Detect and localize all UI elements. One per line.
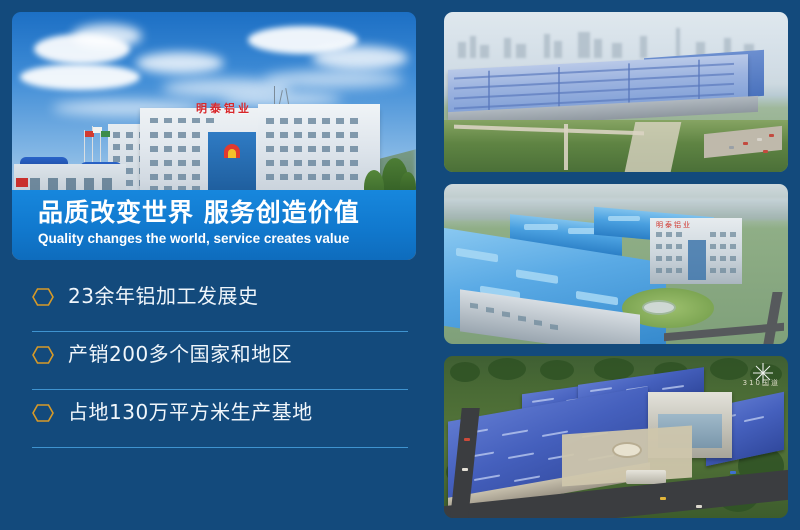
company-logo-icon [224, 144, 240, 158]
feature-divider [32, 447, 408, 448]
feature-item-label: 占地130万平方米生产基地 [68, 396, 313, 425]
plaza-fountain [612, 442, 642, 458]
slogan-banner: 品质改变世界 服务创造价值 Quality changes the world,… [12, 190, 416, 260]
feature-item-label: 产销200多个国家和地区 [68, 338, 292, 367]
hexagon-icon [32, 286, 54, 308]
entrance-gate [626, 470, 666, 484]
feature-list: 23余年铝加工发展史 产销200多个国家和地区 占地130万 [12, 274, 416, 448]
slogan-headline-en: Quality changes the world, service creat… [38, 229, 416, 248]
hexagon-icon [32, 402, 54, 424]
hexagon-icon [32, 344, 54, 366]
feature-item-1[interactable]: 23余年铝加工发展史 [12, 274, 416, 332]
promo-banner-page: 明泰铝业 [0, 0, 800, 530]
aerial-factory-complex-photo [444, 12, 788, 172]
workshop-sign [16, 178, 28, 187]
sparkle-icon [752, 362, 774, 384]
company-headquarters-photo: 明泰铝业 [12, 12, 416, 260]
flag-green-icon [101, 131, 110, 137]
fountain [642, 300, 676, 315]
office-tower-sign: 明泰铝业 [656, 220, 692, 230]
industrial-park-rendering: 310国道 [444, 356, 788, 518]
office-tower: 明泰铝业 [650, 218, 742, 284]
feature-item-2[interactable]: 产销200多个国家和地区 [12, 332, 416, 390]
aerial-workshops-office-photo: 明泰铝业 [444, 184, 788, 344]
slogan-headline-cn: 品质改变世界 服务创造价值 [38, 198, 416, 228]
left-column: 明泰铝业 [12, 12, 416, 518]
feature-item-label: 23余年铝加工发展史 [68, 280, 258, 309]
gallery-column: 明泰铝业 [444, 12, 788, 518]
building-roof-sign: 明泰铝业 [196, 100, 252, 116]
feature-item-3[interactable]: 占地130万平方米生产基地 [12, 390, 416, 448]
building-atrium-entrance [208, 132, 256, 190]
